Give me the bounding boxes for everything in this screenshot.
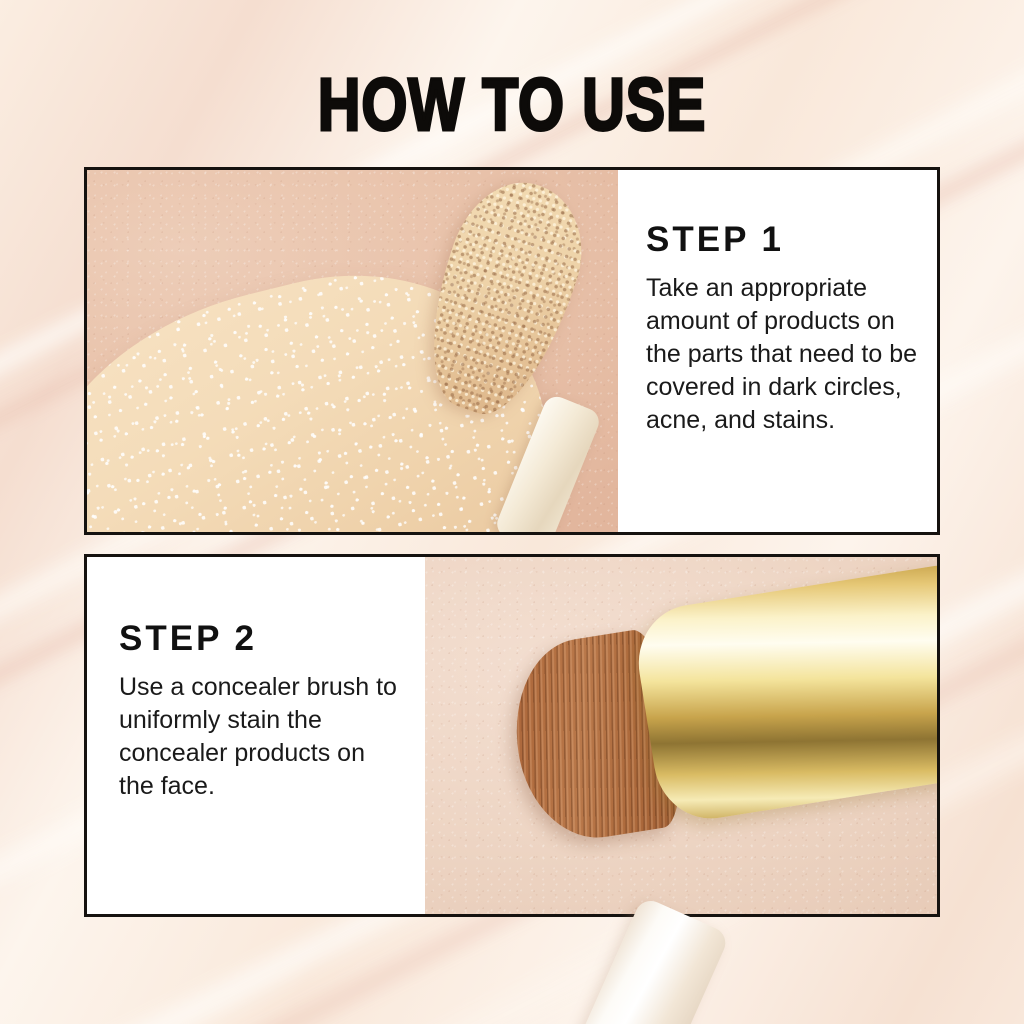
- how-to-use-infographic: HOW TO USE STEP 1 Take an appropriate am…: [0, 0, 1024, 1024]
- page-title: HOW TO USE: [102, 68, 921, 142]
- step-card-2: STEP 2 Use a concealer brush to uniforml…: [84, 554, 940, 917]
- step-2-description: Use a concealer brush to uniformly stain…: [119, 671, 425, 803]
- step-1-description: Take an appropriate amount of products o…: [646, 272, 937, 437]
- step-card-1: STEP 1 Take an appropriate amount of pro…: [84, 167, 940, 535]
- step-1-photo: [87, 170, 618, 532]
- step-2-heading: STEP 2: [119, 619, 425, 659]
- step-1-heading: STEP 1: [646, 220, 937, 260]
- step-2-text-pane: STEP 2 Use a concealer brush to uniforml…: [87, 557, 425, 914]
- step-2-photo: [425, 557, 937, 914]
- step-1-text-pane: STEP 1 Take an appropriate amount of pro…: [618, 170, 937, 532]
